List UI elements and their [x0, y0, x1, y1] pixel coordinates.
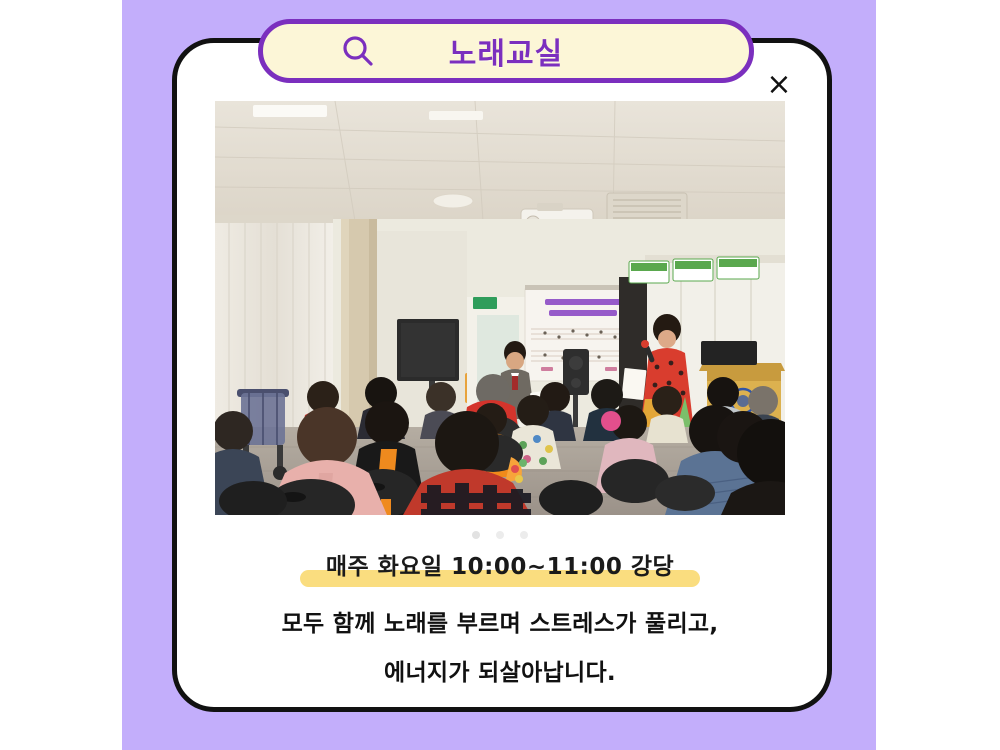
program-photo[interactable] — [215, 101, 785, 515]
carousel-dot-3[interactable] — [520, 531, 528, 539]
schedule-row: 매주 화요일 10:00~11:00 강당 — [0, 545, 1000, 585]
description-block: 모두 함께 노래를 부르며 스트레스가 풀리고, 에너지가 되살아납니다. — [0, 600, 1000, 698]
carousel-dot-2[interactable] — [496, 531, 504, 539]
page-title: 노래교실 — [263, 29, 749, 73]
title-pill-header: 노래교실 — [258, 19, 754, 83]
schedule-text: 매주 화요일 10:00~11:00 강당 — [300, 545, 700, 585]
carousel-dot-1[interactable] — [472, 531, 480, 539]
description-line-2: 에너지가 되살아납니다. — [0, 649, 1000, 698]
close-icon[interactable]: × — [762, 68, 796, 102]
screenshot-root: 노래교실 × — [0, 0, 1000, 750]
carousel-dots — [0, 531, 1000, 539]
description-line-1: 모두 함께 노래를 부르며 스트레스가 풀리고, — [0, 600, 1000, 649]
search-icon[interactable] — [341, 34, 375, 68]
